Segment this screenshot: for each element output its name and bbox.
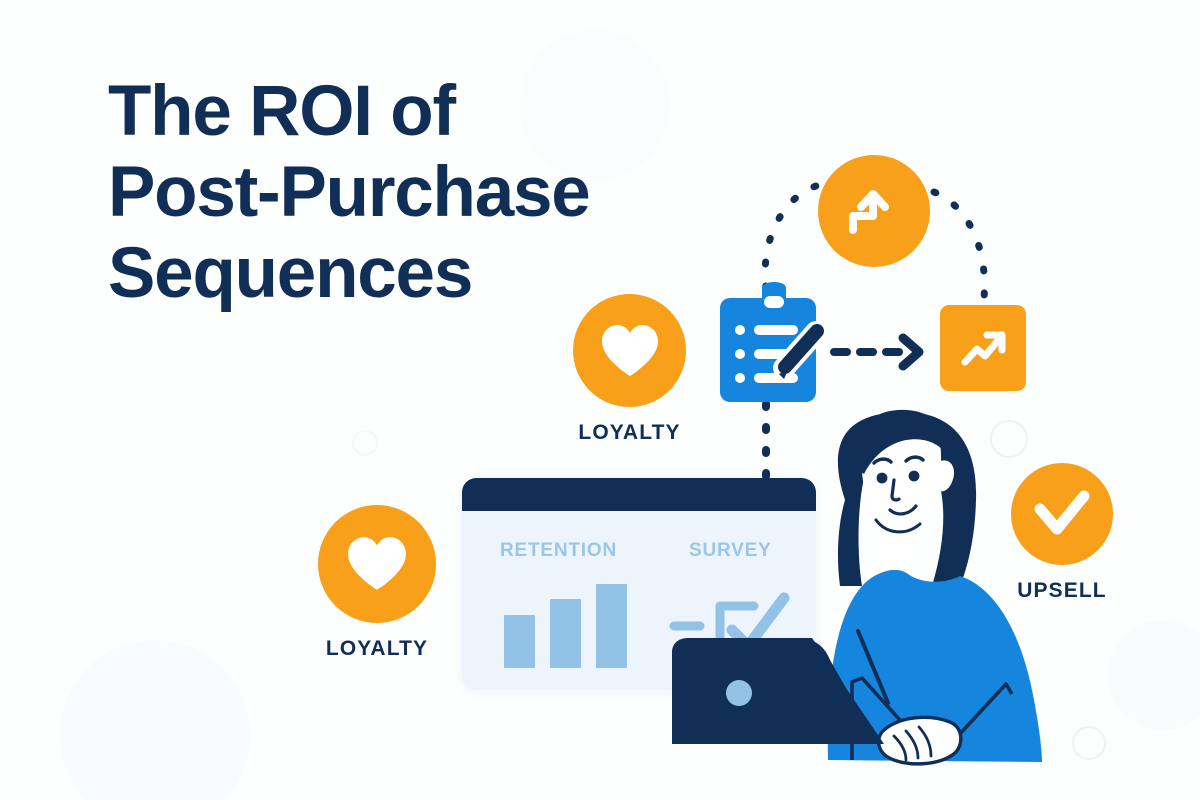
badge-upsell[interactable]: UPSELL [1011,463,1113,603]
eye-left [877,473,888,484]
upsell-circle [1011,463,1113,565]
hand [879,717,961,764]
person-laptop-layer [0,0,1200,800]
illustration-canvas: The ROI of Post-Purchase Sequences [0,0,1200,800]
laptop-logo-icon [726,680,752,706]
badge-upsell-label: UPSELL [1011,579,1113,603]
eye-right [909,471,920,482]
check-icon [1033,490,1091,538]
